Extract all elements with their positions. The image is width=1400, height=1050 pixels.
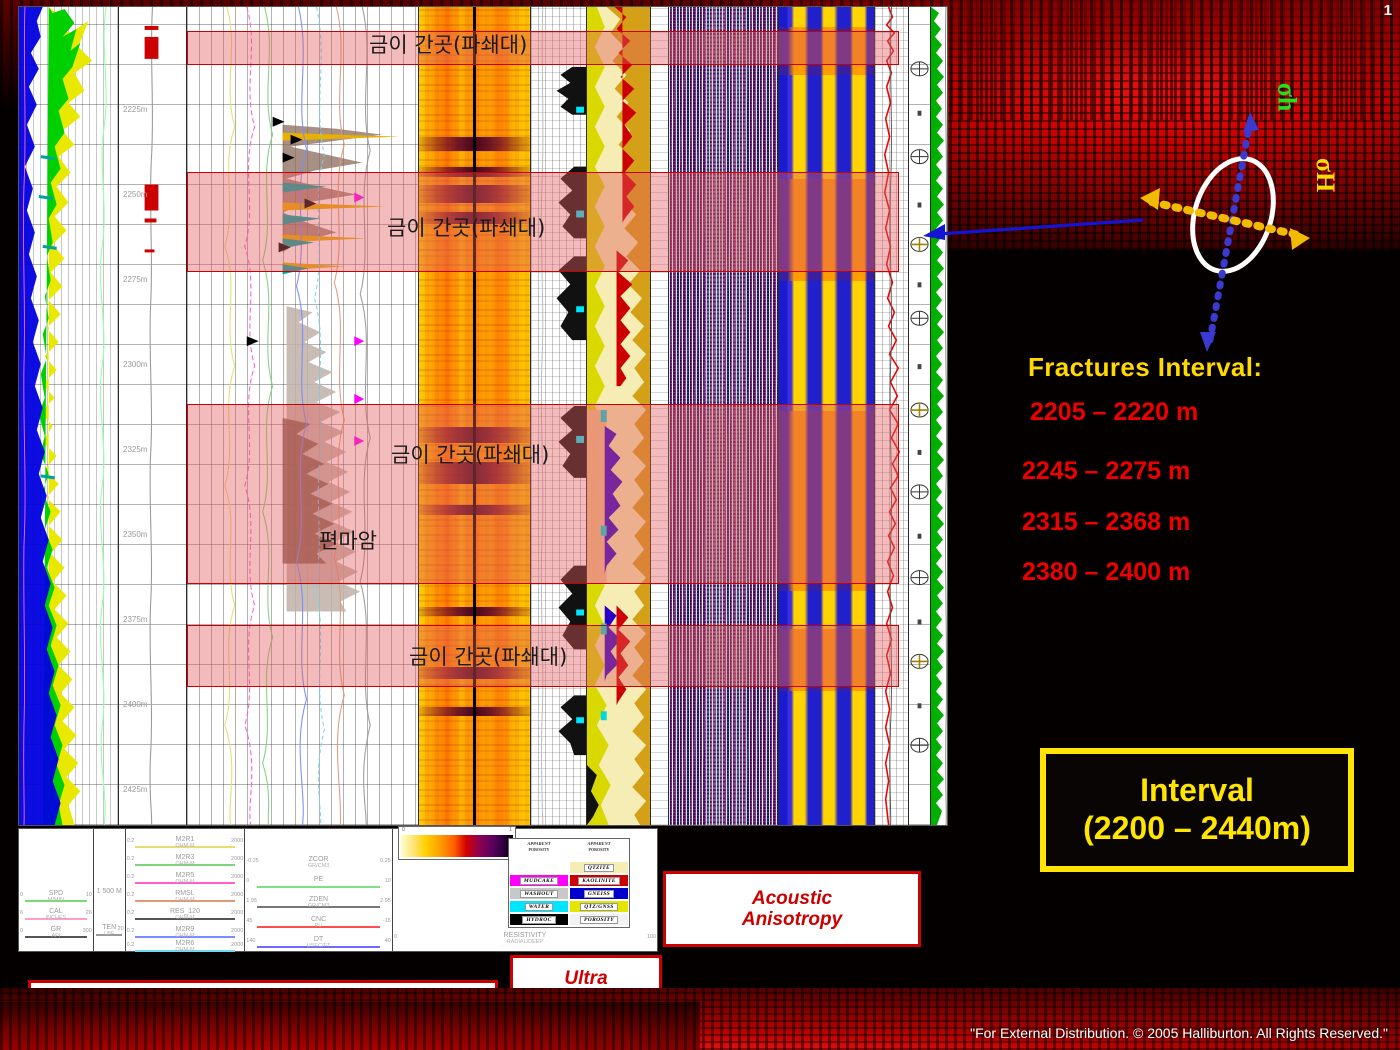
curve-min: 0 [394, 934, 397, 940]
curve-unit: OHM-M [126, 861, 245, 867]
legend-item: MUDCAKE [509, 874, 569, 887]
header-curve-row: GR API 0 300 [19, 927, 93, 943]
sigma-H-label: σH [1310, 158, 1340, 192]
track-depth-strip [651, 7, 669, 825]
depth-label: 2275m [123, 275, 147, 284]
anisotropy-anomaly [779, 27, 874, 75]
fracture-interval-item: 2315 – 2368 m [1022, 508, 1190, 537]
legend-item: GNEISS [569, 887, 629, 900]
curve-unit: GR/CM3 [245, 903, 392, 909]
track-green-curve[interactable] [931, 7, 948, 825]
depth-label: 2400m [123, 700, 147, 709]
curve-max: 2000 [231, 928, 243, 934]
curve-max: 26 [86, 910, 92, 916]
pointer-arrowhead [923, 224, 945, 240]
header-curve-row: M2R3 OHM-M 0.2 2000 [126, 855, 245, 871]
legend-label: QTZITE [584, 864, 614, 872]
track-tension-depth[interactable]: 2225m 2250m 2275m 2300m 2325m 2350m 2375… [119, 7, 187, 825]
curve-unit: M/MIN [19, 897, 93, 903]
track-acoustic-waveform[interactable] [669, 7, 779, 825]
header-curve-row: CNC PU 45 -15 [245, 917, 392, 933]
fractures-interval-title: Fractures Interval: [1028, 352, 1262, 383]
header-curve-row: ZDEN GR/CM3 1.95 2.95 [245, 897, 392, 913]
curve-max: 2000 [231, 856, 243, 862]
curve-max: 2000 [231, 838, 243, 844]
interval-title: Interval [1140, 772, 1254, 810]
header-curve-row: TEN LBF 20 [94, 925, 125, 941]
curve-name: M2R9 [126, 926, 245, 933]
curve-max: 100 [647, 934, 656, 940]
curve-min: 1.95 [246, 898, 257, 904]
curve-name: RES_120 [126, 908, 245, 915]
header-col-4: ZCOR GR/CM3 -0.25 0.25 PE 0 10 ZDEN GR/C… [245, 829, 393, 951]
curve-name: CAL [19, 908, 93, 915]
curve-max: 10 [385, 878, 391, 884]
depth-label: 2300m [123, 360, 147, 369]
curve-name: M2R1 [126, 836, 245, 843]
curve-min: 0.2 [127, 838, 135, 844]
sigma-H-arrow-left [1140, 188, 1160, 210]
curve-unit: OHM-M [126, 933, 245, 939]
curve-min: 0.2 [127, 874, 135, 880]
curve-name: PE [245, 876, 392, 883]
curve-max: -15 [383, 918, 391, 924]
scale-gradient [401, 835, 513, 857]
interval-summary-box[interactable]: Interval (2200 – 2440m) [1040, 748, 1354, 872]
header-curve-row: SPD M/MIN 0 10 [19, 891, 93, 907]
stress-orientation-diagram [1130, 60, 1400, 360]
mineral-legend: APPARENT APPARENT POROSITY POROSITY QTZI… [508, 838, 630, 928]
legend-sub-left: POROSITY [509, 847, 569, 852]
slide-root: 1 [0, 0, 1400, 1050]
curve-min: 0 [20, 892, 23, 898]
copyright-footer: "For External Distribution. © 2005 Halli… [970, 1025, 1388, 1041]
curve-name: M2R5 [126, 872, 245, 879]
header-col-1: SPD M/MIN 0 10 CAL INCHES 6 26 GR API 0 … [19, 829, 94, 951]
sigma-h-axis [1210, 122, 1250, 340]
background-bottom-left [0, 1002, 700, 1050]
fracture-interval-item: 2205 – 2220 m [1030, 398, 1198, 427]
sigma-h-arrow-top [1243, 112, 1259, 132]
legend-item [509, 861, 569, 874]
fracture-interval-item: 2380 – 2400 m [1022, 558, 1190, 587]
legend-item: QTZITE [569, 861, 629, 874]
legend-grid: QTZITE MUDCAKE KAOLINITE WASHOUT GNEISS … [509, 861, 629, 927]
legend-item: QTZ/GNSS [569, 900, 629, 913]
page-number: 1 [1384, 2, 1392, 19]
legend-label: GNEISS [584, 890, 614, 898]
track-anisotropy-map[interactable] [779, 7, 875, 825]
annotation-fracture-zone: 금이 간곳(파쇄대) [387, 212, 545, 242]
curve-swatch-pe [257, 886, 380, 888]
fracture-interval-item: 2245 – 2275 m [1022, 457, 1190, 486]
curve-min: 6 [20, 910, 23, 916]
green-curve-fill [931, 7, 948, 825]
interval-range: (2200 – 2440m) [1083, 810, 1311, 848]
track-rose-diagram[interactable] [909, 7, 931, 825]
header-curve-row: ZCOR GR/CM3 -0.25 0.25 [245, 857, 392, 873]
resistivity-curves [187, 7, 418, 825]
header-curve-row: RMSL OHM-M 0.2 2000 [126, 891, 245, 907]
legend-label: KAOLINITE [578, 877, 620, 885]
curve-name: CNC [245, 916, 392, 923]
callout-acoustic-anisotropy[interactable]: Acoustic Anisotropy [663, 871, 921, 947]
volumetric-fill [587, 7, 650, 825]
depth-label: 2250m [123, 190, 147, 199]
annotation-fracture-zone: 금이 간곳(파쇄대) [409, 641, 567, 671]
legend-swatch [510, 862, 568, 873]
curve-max: 10 [86, 892, 92, 898]
depth-label: 2225m [123, 105, 147, 114]
legend-item: WASHOUT [509, 887, 569, 900]
legend-label: HYDROC [522, 916, 555, 924]
legend-label: WATER [525, 903, 554, 911]
header-curve-row: M2R1 OHM-M 0.2 2000 [126, 837, 245, 853]
curve-max: 2000 [231, 942, 243, 948]
callout-line-1: Acoustic [742, 888, 842, 909]
legend-item: WATER [509, 900, 569, 913]
curve-unit: RADIAL/DEEP [393, 939, 657, 945]
track-gamma-ray[interactable] [19, 7, 119, 825]
legend-label: WASHOUT [520, 890, 558, 898]
curve-max: 2000 [231, 874, 243, 880]
curve-max: 2000 [231, 910, 243, 916]
legend-header-left: APPARENT [509, 841, 569, 846]
curve-range: 1 500 M [94, 888, 125, 895]
image-log-color-scale: 0 1 [398, 826, 516, 860]
curve-min: 0 [20, 928, 23, 934]
curve-max: 0.25 [380, 858, 391, 864]
curve-name: ZDEN [245, 896, 392, 903]
track-anisotropy-curve[interactable] [875, 7, 909, 825]
curve-unit: OHM-M [126, 947, 245, 953]
curve-unit: GR/CM3 [245, 863, 392, 869]
legend-header-right: APPARENT [569, 841, 629, 846]
header-curve-row: CAL INCHES 6 26 [19, 909, 93, 925]
depth-label: 2350m [123, 530, 147, 539]
curve-min: 0.2 [127, 856, 135, 862]
scale-max: 1 [509, 827, 512, 833]
curve-name: SPD [19, 890, 93, 897]
curve-name: M2R6 [126, 940, 245, 947]
header-curve-row: RESISTIVITY RADIAL/DEEP 0 100 [393, 933, 657, 949]
header-col-3: M2R1 OHM-M 0.2 2000 M2R3 OHM-M 0.2 2000 … [126, 829, 246, 951]
curve-unit: OHM-M [126, 915, 245, 921]
image-log-pad-gap [473, 7, 476, 825]
header-curve-row: DT USEC/FT 140 40 [245, 937, 392, 953]
legend-sub-right: POROSITY [569, 847, 629, 852]
legend-item: KAOLINITE [569, 874, 629, 887]
curve-min: 140 [246, 938, 255, 944]
sigma-H-arrow-right [1290, 228, 1310, 250]
curve-unit: INCHES [19, 915, 93, 921]
curve-max: 300 [83, 928, 92, 934]
borehole-ellipse [1179, 148, 1287, 282]
grid-horizontal [651, 7, 668, 825]
anisotropy-red-curve [875, 7, 908, 825]
curve-unit: PU [245, 923, 392, 929]
legend-item: HYDROC [509, 913, 569, 926]
anisotropy-anomaly [779, 629, 874, 691]
header-curve-row: M2R5 OHM-M 0.2 2000 [126, 873, 245, 889]
annotation-gneiss: 편마암 [319, 525, 377, 555]
curve-min: 45 [246, 918, 252, 924]
scale-min: 0 [402, 827, 405, 833]
curve-unit: OHM-M [126, 897, 245, 903]
curve-unit: USEC/FT [245, 943, 392, 949]
legend-label: POROSITY [580, 916, 618, 924]
curve-max: 2.95 [380, 898, 391, 904]
curve-name: M2R3 [126, 854, 245, 861]
callout-line-1: Ultra [537, 968, 635, 989]
header-curve-row: RES_120 OHM-M 0.2 2000 [126, 909, 245, 925]
curve-unit: OHM-M [126, 843, 245, 849]
gr-curve-fill [19, 7, 118, 825]
curve-unit: OHM-M [126, 879, 245, 885]
sigma-h-arrow-bottom [1200, 332, 1216, 352]
header-col-2: 1 500 M TEN LBF 20 [94, 829, 126, 951]
legend-label: QTZ/GNSS [580, 903, 617, 911]
composite-log-plot[interactable]: 2225m 2250m 2275m 2300m 2325m 2350m 2375… [18, 6, 948, 826]
curve-min: 0.2 [127, 892, 135, 898]
depth-label: 2325m [123, 445, 147, 454]
depth-label: 2425m [123, 785, 147, 794]
sigma-H-axis [1152, 202, 1298, 235]
callout-line-2: Anisotropy [742, 909, 842, 930]
curve-name: RMSL [126, 890, 245, 897]
curve-min: 0 [246, 878, 249, 884]
curve-max: 40 [385, 938, 391, 944]
curve-min: -0.25 [246, 858, 259, 864]
curve-max: 20 [118, 926, 124, 932]
legend-label: MUDCAKE [520, 877, 558, 885]
track-volumetric[interactable] [587, 7, 651, 825]
curve-min: 0.2 [127, 942, 135, 948]
curve-min: 0.2 [127, 910, 135, 916]
header-curve-row: M2R6 OHM-M 0.2 2000 [126, 941, 245, 957]
header-curve-row: PE 0 10 [245, 877, 392, 893]
curve-name: RESISTIVITY [393, 932, 657, 939]
waveform-grey-band [731, 7, 747, 825]
annotation-fracture-zone: 금이 간곳(파쇄대) [369, 29, 527, 59]
rose-symbols [909, 7, 930, 825]
annotation-fracture-zone: 금이 간곳(파쇄대) [391, 439, 549, 469]
anisotropy-anomaly [779, 179, 874, 281]
aux-curves [531, 7, 586, 825]
track-image-log[interactable] [419, 7, 531, 825]
depth-label: 2375m [123, 615, 147, 624]
anisotropy-anomaly [779, 411, 874, 591]
curve-min: 0.2 [127, 928, 135, 934]
curve-name: DT [245, 936, 392, 943]
track-porosity-aux[interactable] [531, 7, 587, 825]
waveform-grey-band [705, 7, 725, 825]
curve-name: ZCOR [245, 856, 392, 863]
pointer-line [915, 214, 1145, 242]
legend-item: POROSITY [569, 913, 629, 926]
sigma-h-label: σh [1271, 83, 1301, 112]
track-resistivity-array[interactable] [187, 7, 419, 825]
curve-max: 2000 [231, 892, 243, 898]
header-curve-row: 1 500 M [94, 889, 125, 905]
